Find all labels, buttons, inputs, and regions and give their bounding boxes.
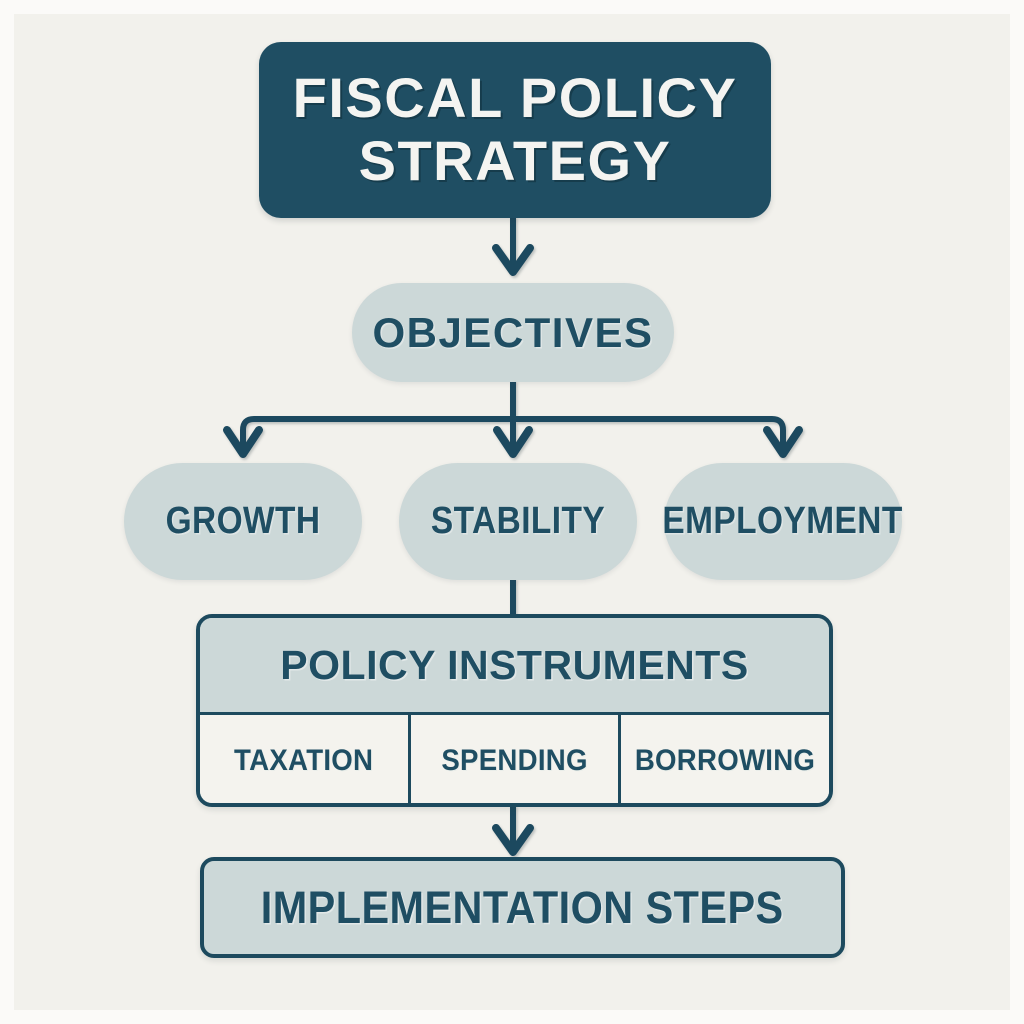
title-text: FISCAL POLICY STRATEGY (277, 67, 754, 192)
growth-label: GROWTH (166, 500, 321, 543)
spending-label: SPENDING (441, 744, 587, 778)
node-objectives[interactable]: OBJECTIVES (352, 283, 674, 382)
node-growth[interactable]: GROWTH (124, 463, 362, 580)
stability-label: STABILITY (431, 500, 605, 543)
cell-taxation[interactable]: TAXATION (200, 715, 411, 807)
policy-instruments-cells: TAXATION SPENDING BORROWING (200, 715, 829, 807)
taxation-label: TAXATION (234, 744, 373, 778)
node-implementation-steps[interactable]: IMPLEMENTATION STEPS (200, 857, 845, 958)
title-line-1: FISCAL POLICY (293, 66, 738, 129)
policy-instruments-label: POLICY INSTRUMENTS (280, 642, 748, 689)
connector-instruments-to-implementation (496, 807, 530, 852)
diagram-canvas: FISCAL POLICY STRATEGY OBJECTIVES GROWTH… (0, 0, 1024, 1024)
policy-instruments-header: POLICY INSTRUMENTS (200, 618, 829, 715)
node-employment[interactable]: EMPLOYMENT (664, 463, 902, 580)
employment-label: EMPLOYMENT (663, 500, 903, 543)
connector-objectives-to-branches (227, 382, 799, 454)
cell-borrowing[interactable]: BORROWING (621, 715, 829, 807)
connector-title-to-objectives (496, 218, 530, 272)
cell-spending[interactable]: SPENDING (411, 715, 622, 807)
implementation-steps-label: IMPLEMENTATION STEPS (261, 882, 784, 934)
node-stability[interactable]: STABILITY (399, 463, 637, 580)
node-policy-instruments[interactable]: POLICY INSTRUMENTS TAXATION SPENDING BOR… (196, 614, 833, 807)
objectives-label: OBJECTIVES (372, 309, 653, 357)
title-line-2: STRATEGY (359, 129, 672, 192)
node-fiscal-policy-strategy[interactable]: FISCAL POLICY STRATEGY (259, 42, 771, 218)
borrowing-label: BORROWING (635, 744, 815, 778)
